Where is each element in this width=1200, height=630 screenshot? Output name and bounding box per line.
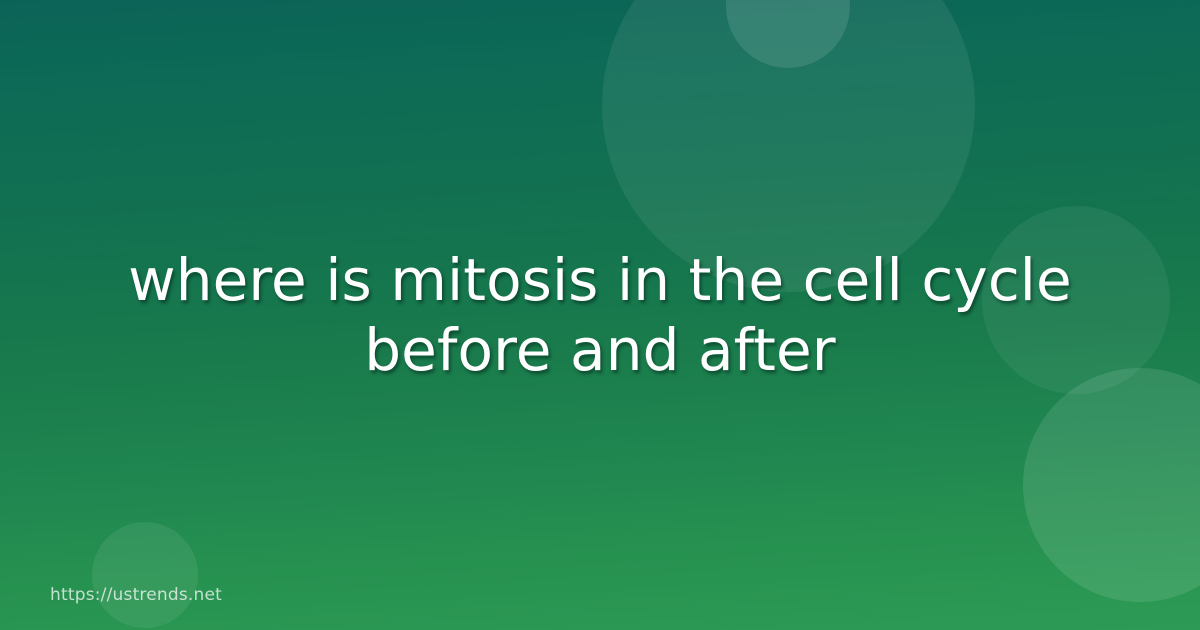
site-url-label: https://ustrends.net bbox=[50, 587, 222, 604]
page-title: where is mitosis in the cell cycle befor… bbox=[65, 245, 1135, 385]
headline-container: where is mitosis in the cell cycle befor… bbox=[0, 0, 1200, 630]
og-share-card: where is mitosis in the cell cycle befor… bbox=[0, 0, 1200, 630]
